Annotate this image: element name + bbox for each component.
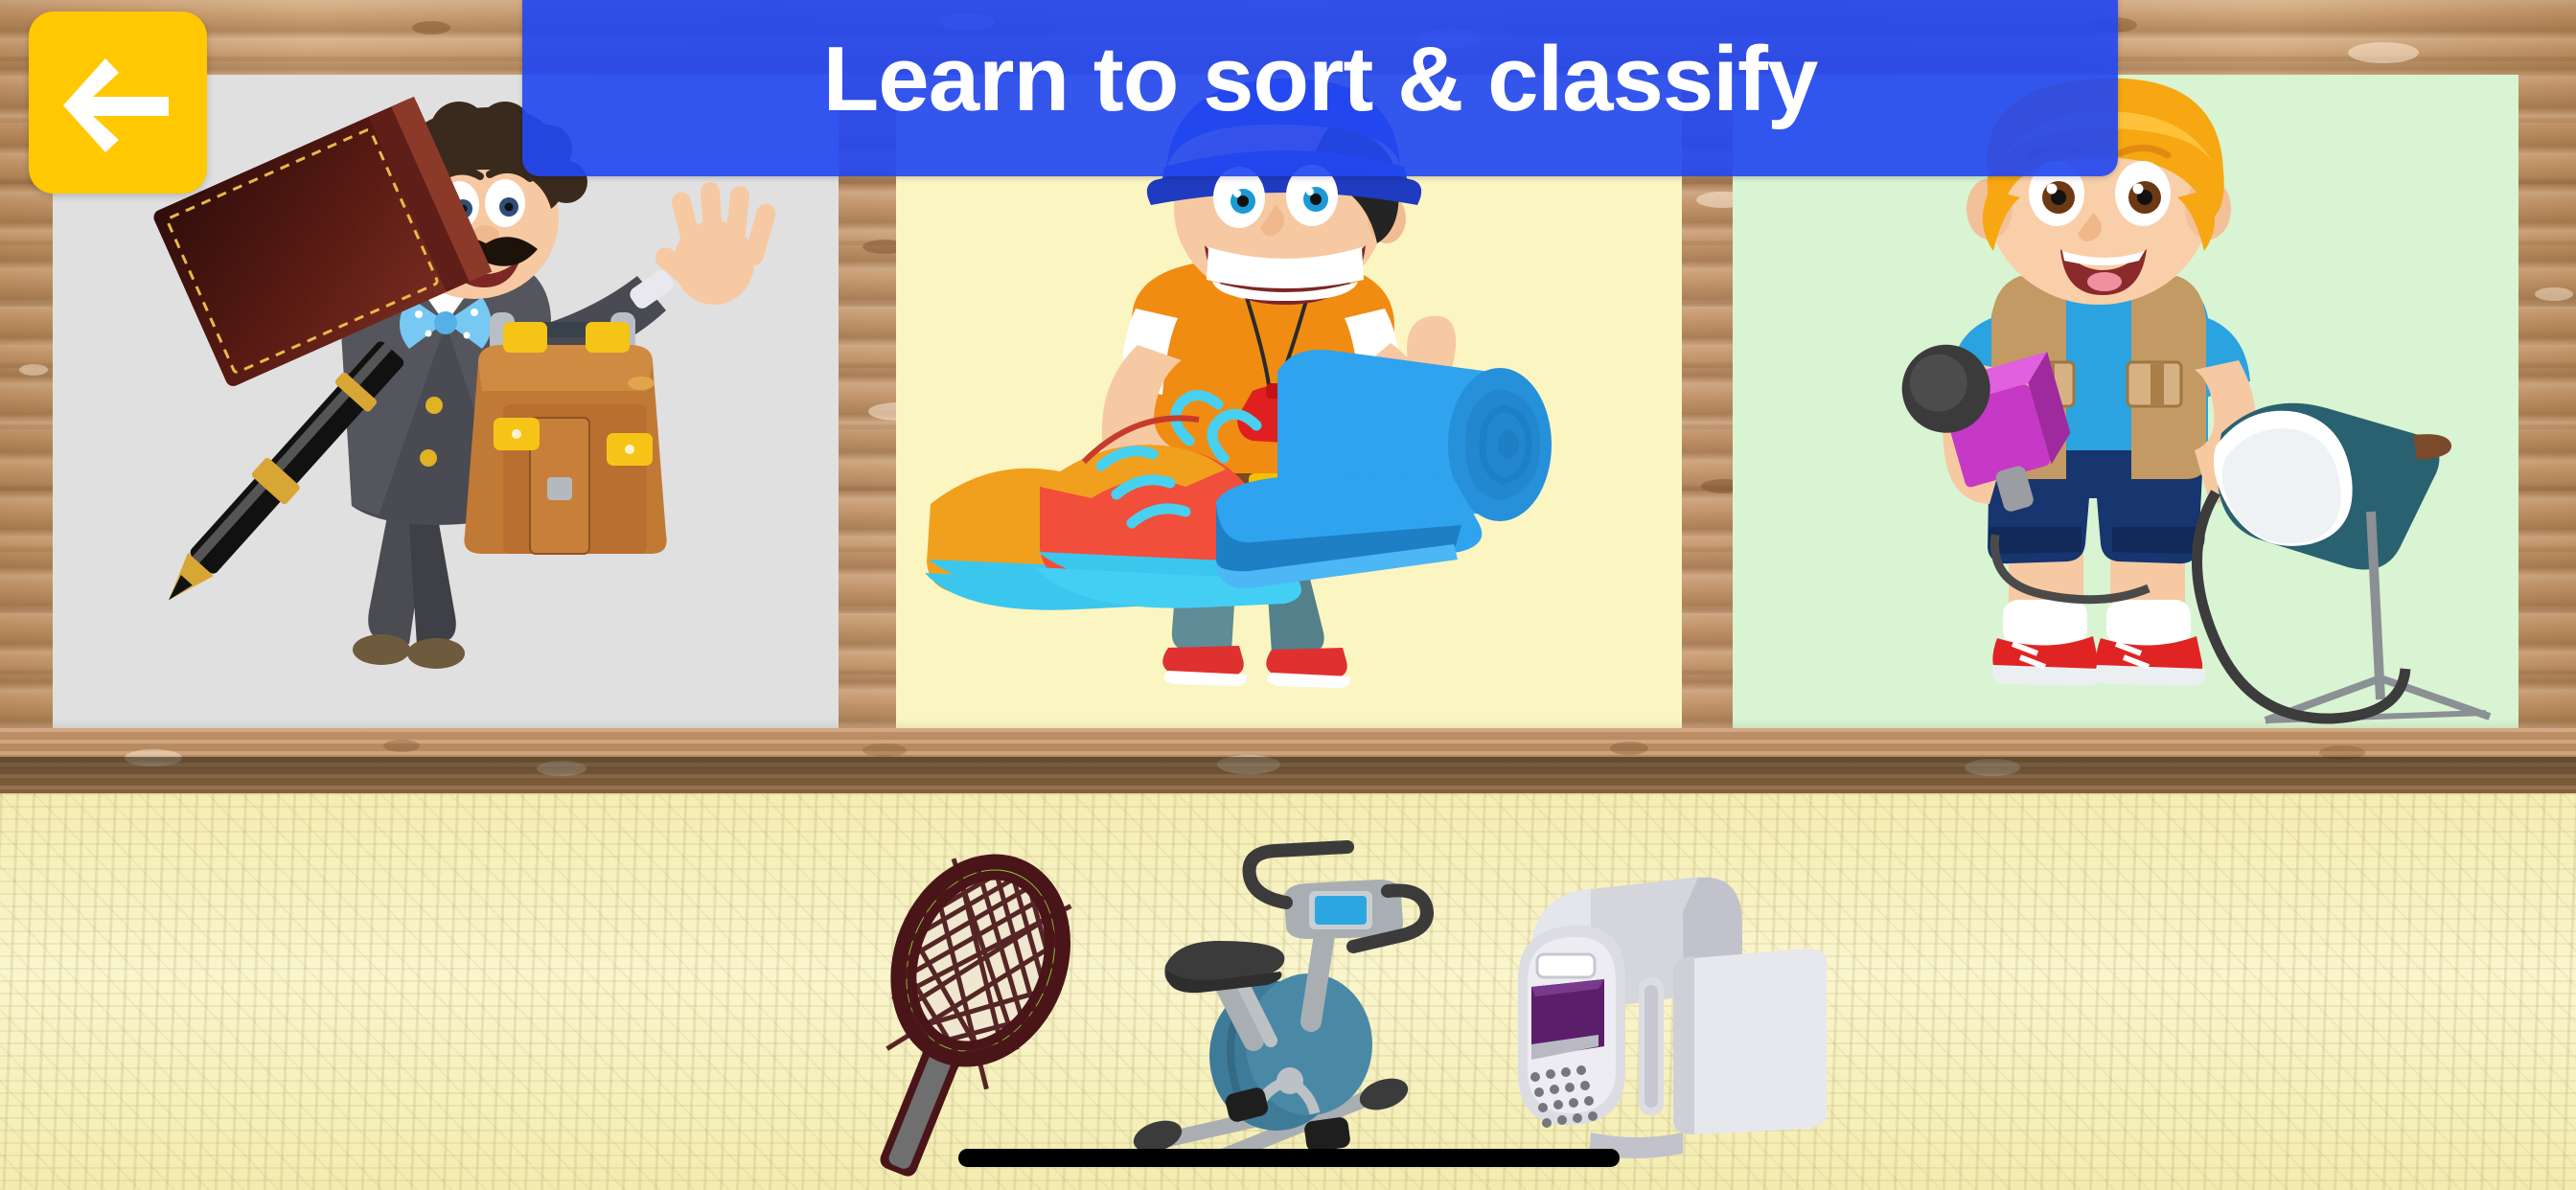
tray-item-exercise-bike[interactable] xyxy=(1131,843,1476,1179)
tennis-racket-icon xyxy=(786,843,1131,1188)
exercise-bike-icon xyxy=(1131,843,1476,1179)
system-navigation-pill[interactable] xyxy=(958,1149,1620,1167)
page-title: Learn to sort & classify xyxy=(823,34,1818,131)
back-button[interactable] xyxy=(29,11,207,194)
tray-item-tennis-racket[interactable] xyxy=(786,843,1131,1188)
tray-item-camcorder[interactable] xyxy=(1485,862,1830,1179)
arrow-left-icon xyxy=(61,53,174,152)
app-screen: Learn to sort & classify xyxy=(0,0,2576,1190)
camcorder-icon xyxy=(1485,862,1830,1179)
screen-title-banner: Learn to sort & classify xyxy=(522,0,2118,176)
